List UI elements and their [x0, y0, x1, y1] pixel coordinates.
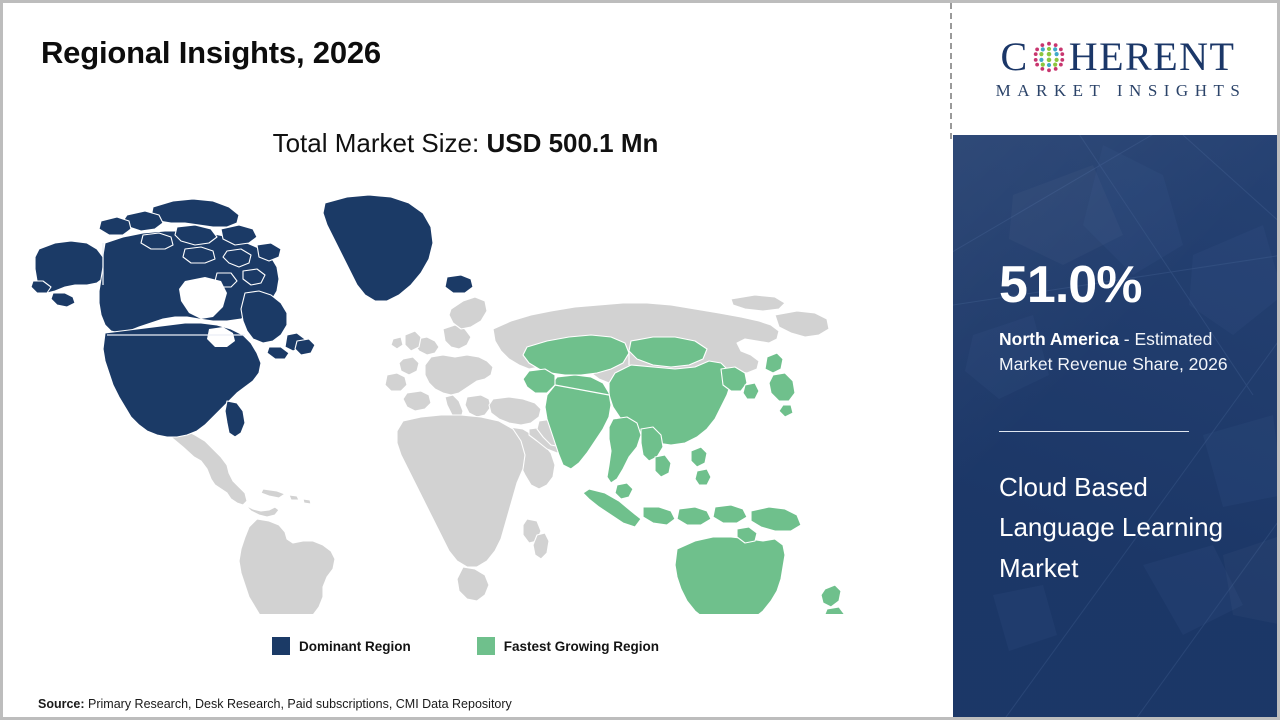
stat-caption: North America - Estimated Market Revenue… — [999, 327, 1245, 378]
left-content-pane: Regional Insights, 2026 Total Market Siz… — [3, 3, 950, 717]
logo-letter-c: C — [1001, 37, 1029, 77]
dotted-globe-icon — [1030, 38, 1068, 76]
legend-item-dominant[interactable]: Dominant Region — [272, 637, 411, 655]
regional-insights-infographic: Regional Insights, 2026 Total Market Siz… — [0, 0, 1280, 720]
panel-content: 51.0% North America - Estimated Market R… — [953, 135, 1280, 720]
market-name: Cloud Based Language Learning Market — [999, 467, 1249, 588]
page-title: Regional Insights, 2026 — [41, 35, 381, 71]
source-value: Primary Research, Desk Research, Paid su… — [85, 697, 512, 711]
logo-wordmark: C — [1001, 37, 1236, 77]
map-legend: Dominant Region Fastest Growing Region — [3, 637, 928, 655]
stat-region-name: North America — [999, 329, 1119, 349]
highlight-panel: 51.0% North America - Estimated Market R… — [953, 135, 1280, 720]
brand-logo[interactable]: C — [953, 3, 1280, 135]
stat-value: 51.0% — [999, 259, 1141, 311]
source-label: Source: — [38, 697, 85, 711]
world-map — [31, 189, 911, 614]
map-region-asia-pacific[interactable] — [523, 335, 845, 614]
market-size-value: USD 500.1 Mn — [486, 128, 658, 158]
source-note: Source: Primary Research, Desk Research,… — [38, 697, 512, 711]
legend-label-fastest-growing: Fastest Growing Region — [504, 639, 659, 654]
vertical-dashed-divider — [950, 3, 952, 139]
logo-letters-herent: HERENT — [1069, 37, 1236, 77]
square-swatch-icon — [477, 637, 495, 655]
legend-label-dominant: Dominant Region — [299, 639, 411, 654]
panel-divider — [999, 431, 1189, 432]
legend-item-fastest-growing[interactable]: Fastest Growing Region — [477, 637, 659, 655]
square-swatch-icon — [272, 637, 290, 655]
world-map-container — [31, 189, 911, 614]
logo-subline: MARKET INSIGHTS — [990, 81, 1247, 101]
market-size-label: Total Market Size: — [273, 128, 487, 158]
total-market-size: Total Market Size: USD 500.1 Mn — [3, 128, 928, 159]
